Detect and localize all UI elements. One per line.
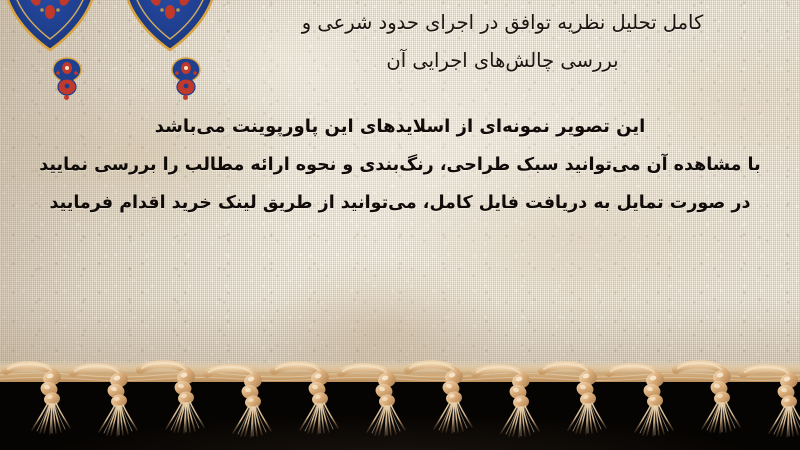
medallion-pendant-small-right <box>176 78 196 96</box>
medallion-tip-dot-left <box>64 95 69 100</box>
persian-medallion-ornament-left <box>4 0 96 62</box>
slide-title-line-2: بررسی چالش‌های اجرایی آن <box>215 42 790 80</box>
medallion-tip-dot-right <box>183 95 188 100</box>
slide-body-line-2: با مشاهده آن می‌توانید سبک طراحی، رنگ‌بن… <box>20 146 780 184</box>
carpet-fringe <box>0 356 800 450</box>
slide-title: کامل تحلیل نظریه توافق در اجرای حدود شرع… <box>215 4 790 80</box>
slide-body-line-1: این تصویر نمونه‌ای از اسلایدهای این پاور… <box>20 108 780 146</box>
persian-medallion-ornament-right <box>124 0 216 62</box>
slide-body: این تصویر نمونه‌ای از اسلایدهای این پاور… <box>20 108 780 222</box>
slide-canvas: کامل تحلیل نظریه توافق در اجرای حدود شرع… <box>0 0 800 450</box>
medallion-pendant-small-left <box>57 78 77 96</box>
slide-body-line-3: در صورت تمایل به دریافت فایل کامل، می‌تو… <box>20 184 780 222</box>
slide-title-line-1: کامل تحلیل نظریه توافق در اجرای حدود شرع… <box>215 4 790 42</box>
